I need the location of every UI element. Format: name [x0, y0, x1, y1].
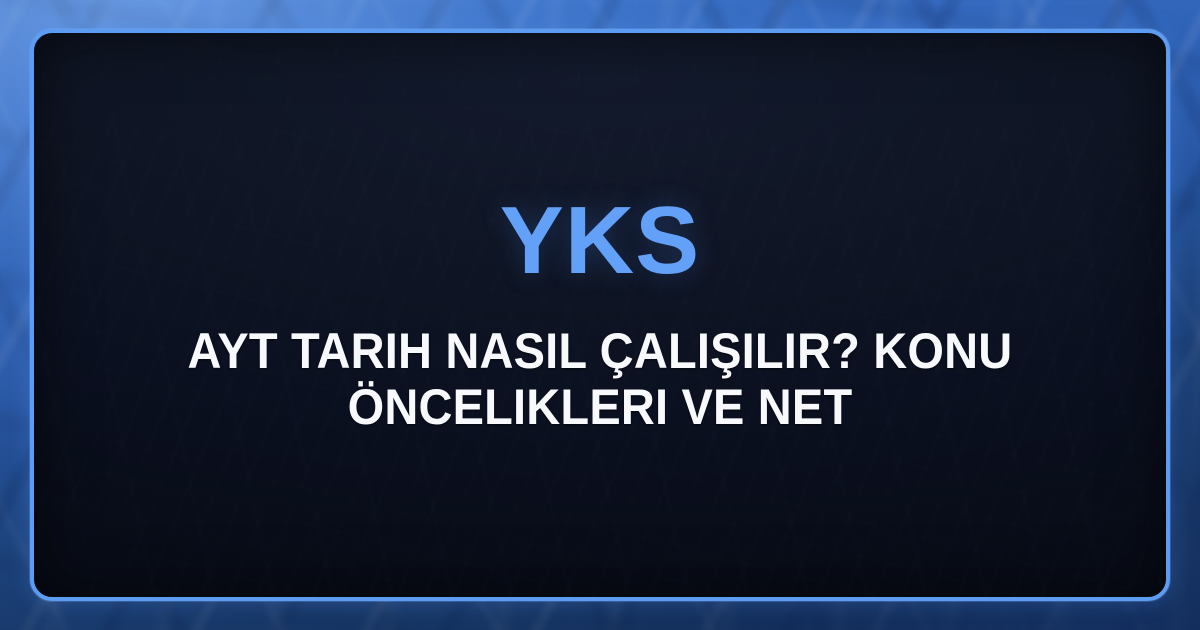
share-card-canvas: YKS AYT TARIH NASIL ÇALIŞILIR? KONU ÖNCE…	[0, 0, 1200, 630]
brand-title: YKS	[500, 193, 700, 289]
content-card: YKS AYT TARIH NASIL ÇALIŞILIR? KONU ÖNCE…	[30, 29, 1170, 601]
card-content: YKS AYT TARIH NASIL ÇALIŞILIR? KONU ÖNCE…	[34, 33, 1166, 597]
page-title: AYT TARIH NASIL ÇALIŞILIR? KONU ÖNCELIKL…	[125, 323, 1074, 435]
